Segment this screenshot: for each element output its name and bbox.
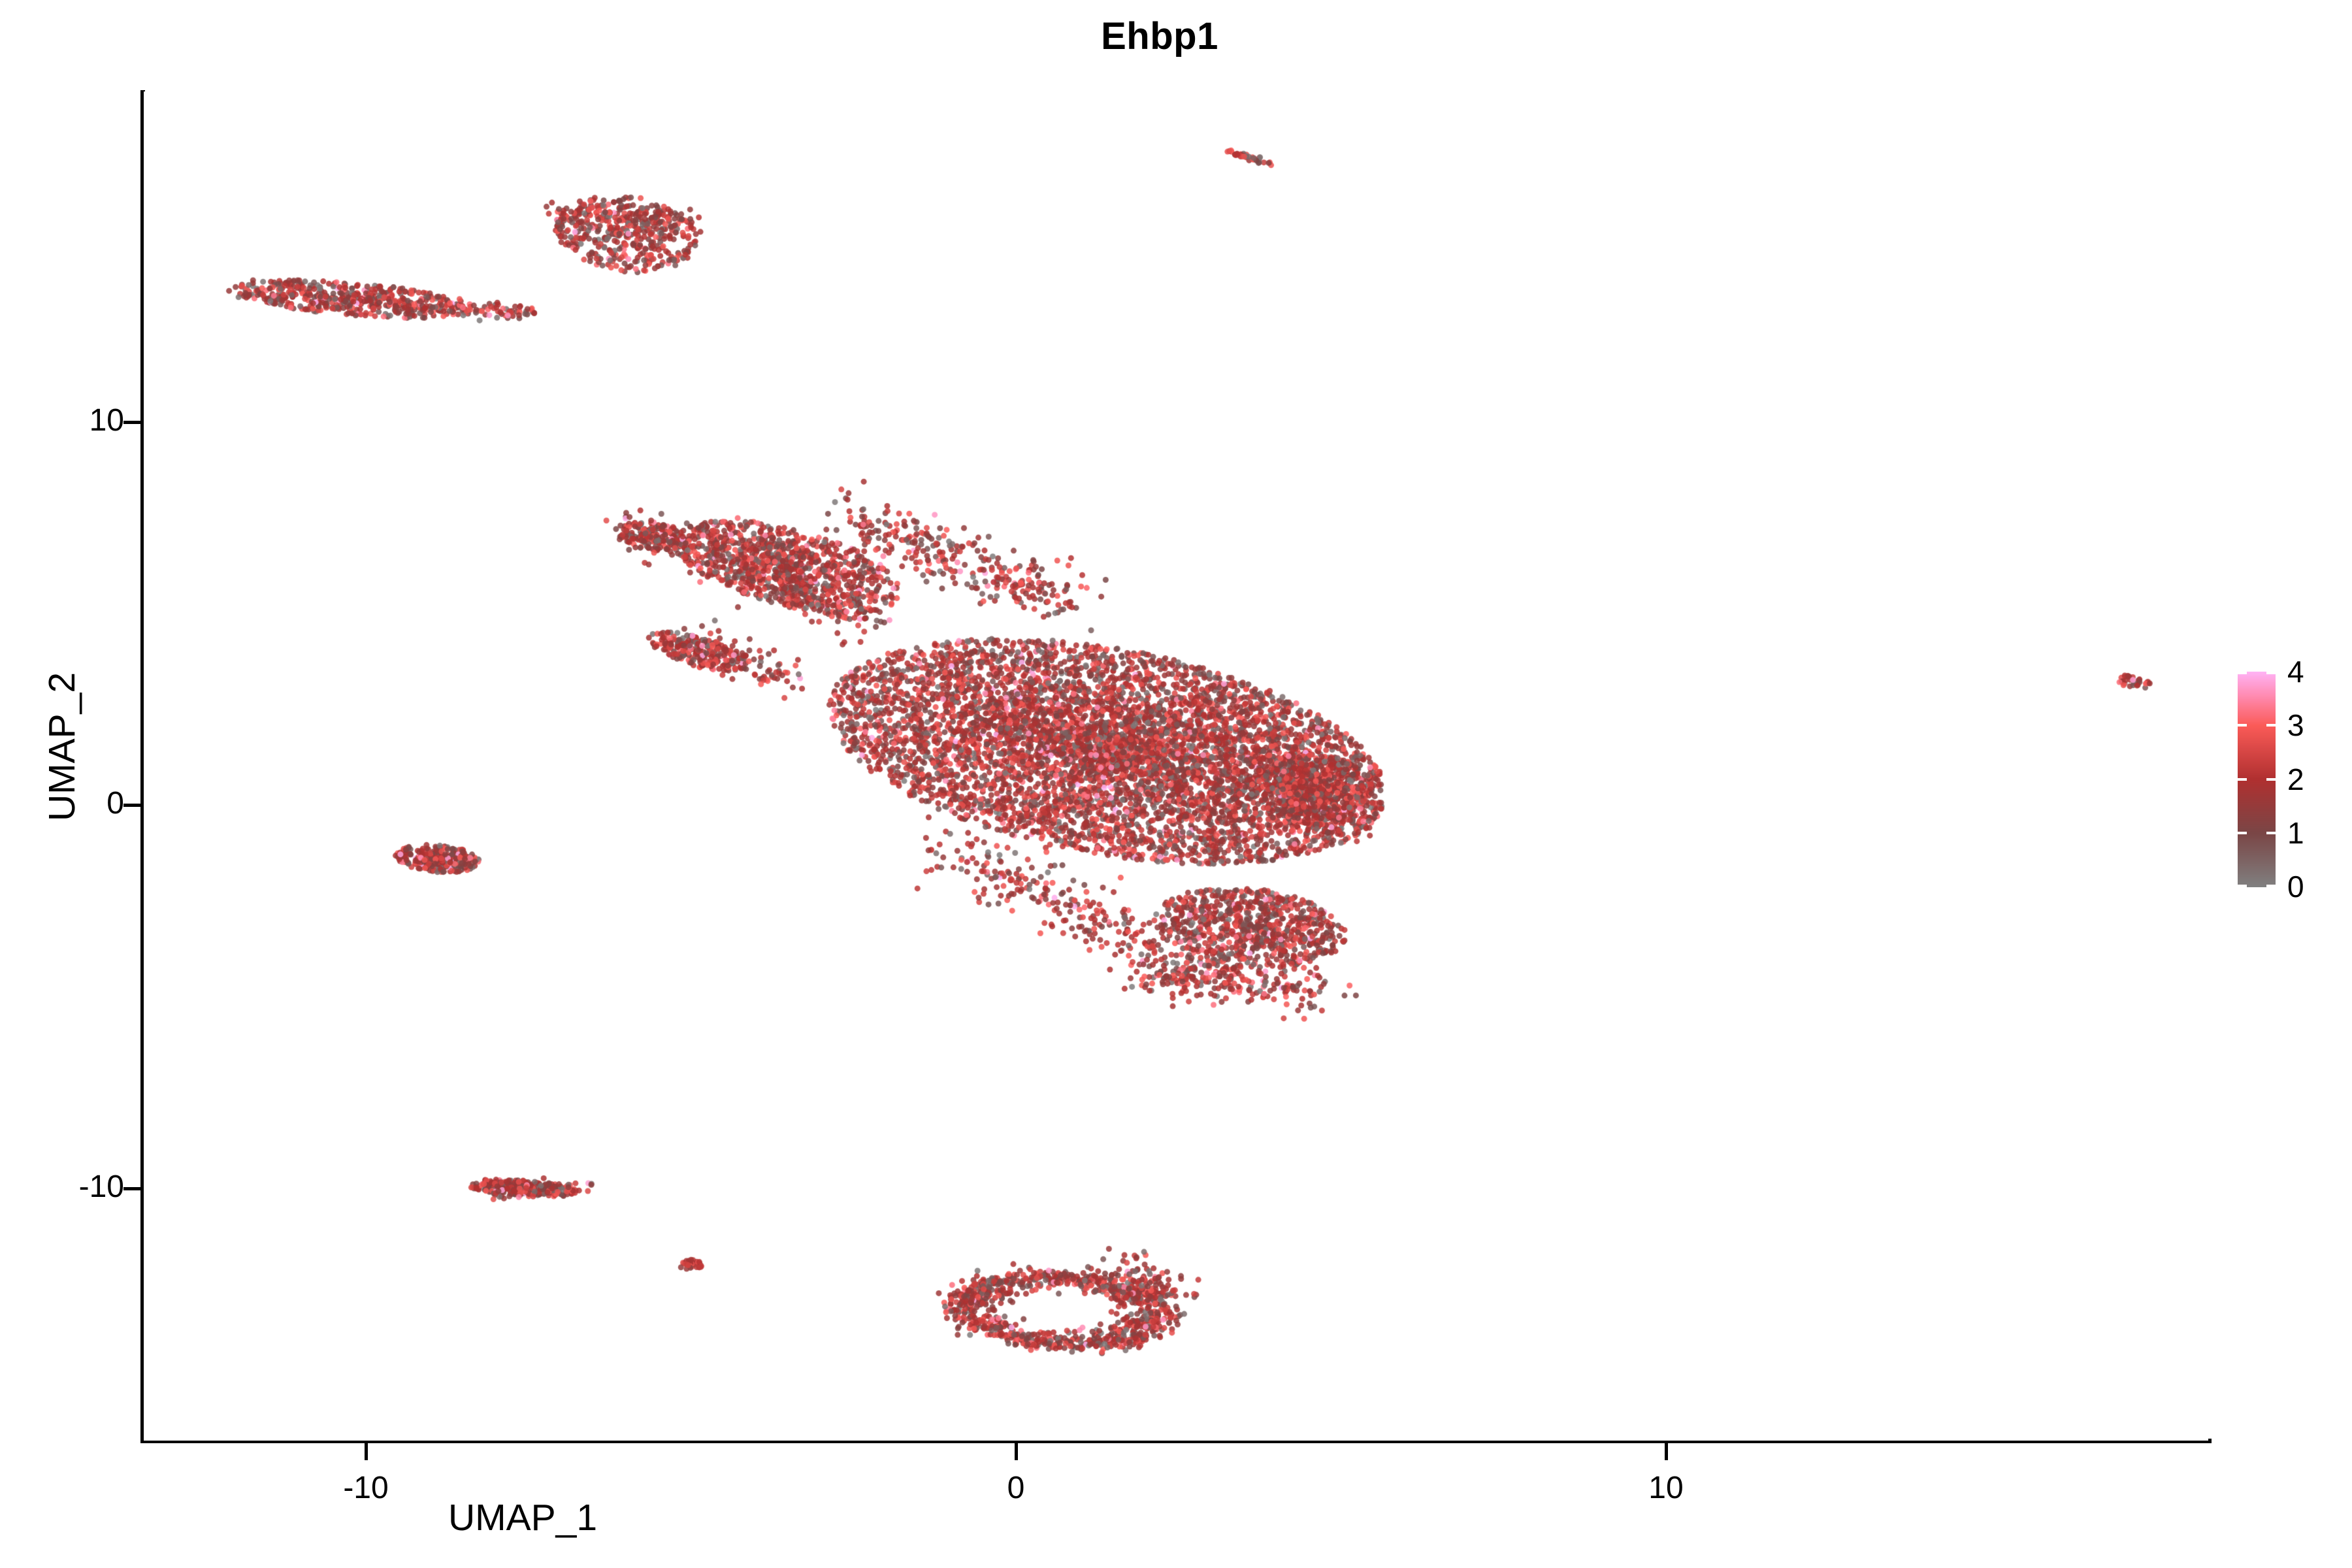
colorbar-tick-mark [2266,724,2276,727]
colorbar-tick-label: 4 [2287,654,2304,689]
page-title: Ehbp1 [0,14,2336,58]
colorbar-tick-mark [2238,778,2247,781]
y-tick-label: -10 [79,1169,124,1205]
colorbar-legend: 43210 [2238,672,2342,894]
colorbar-tick-mark [2266,672,2276,674]
umap-feature-plot: Ehbp1 100-10 -10010 UMAP_2 UMAP_1 43210 [0,0,2352,1568]
colorbar-tick-mark [2238,885,2247,887]
y-tick-mark [123,804,140,807]
scatter-canvas [144,91,2208,1441]
plot-panel [144,91,2208,1441]
y-tick-label: 10 [90,402,124,438]
y-tick-mark [123,421,140,424]
colorbar-tick-label: 0 [2287,869,2304,904]
colorbar-tick-mark [2238,832,2247,834]
colorbar-tick-label: 1 [2287,815,2304,851]
colorbar-tick-mark [2238,724,2247,727]
colorbar-tick-mark [2266,778,2276,781]
colorbar-tick-mark [2266,832,2276,834]
x-tick-mark [365,1443,368,1460]
x-tick-mark [1015,1443,1018,1460]
x-axis-title: UMAP_1 [0,1496,1699,1539]
y-tick-label: 0 [106,785,124,821]
y-tick-mark [123,1187,140,1190]
colorbar-tick-label: 3 [2287,708,2304,743]
colorbar-tick-mark [2238,672,2247,674]
x-tick-mark [1665,1443,1668,1460]
colorbar-tick-mark [2266,885,2276,887]
colorbar-tick-label: 2 [2287,762,2304,797]
y-axis-title: UMAP_2 [41,616,84,877]
